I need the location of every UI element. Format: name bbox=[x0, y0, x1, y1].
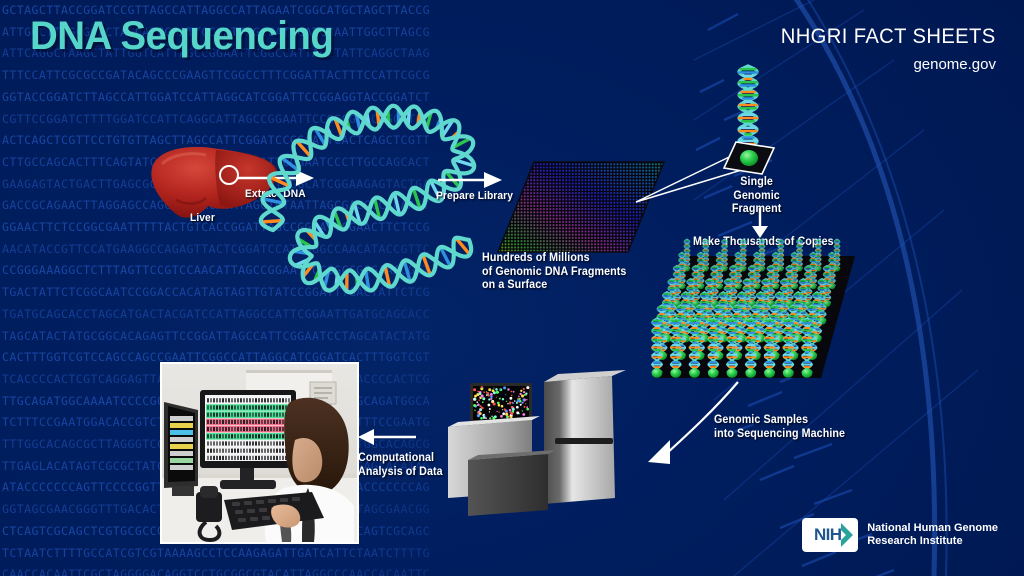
fact-sheets-label: NHGRI FACT SHEETS bbox=[781, 24, 996, 49]
page-title: DNA Sequencing bbox=[30, 14, 333, 59]
label-computational-analysis: Computational Analysis of Data bbox=[358, 452, 443, 479]
single-fragment-tile bbox=[722, 140, 778, 180]
fragments-line-2: of Genomic DNA Fragments bbox=[482, 266, 626, 280]
researcher-photo bbox=[160, 362, 359, 544]
analysis-arrow bbox=[358, 428, 416, 446]
chevron-right-icon bbox=[839, 522, 855, 548]
fragments-line-1: Hundreds of Millions bbox=[482, 252, 626, 266]
website-label: genome.gov bbox=[913, 56, 996, 73]
sequencing-machine bbox=[440, 360, 655, 538]
analysis-line-1: Computational bbox=[358, 452, 443, 466]
label-liver: Liver bbox=[190, 212, 215, 226]
clonal-cluster-array bbox=[655, 248, 855, 388]
label-samples-into-machine: Genomic Samples into Sequencing Machine bbox=[714, 414, 845, 441]
nih-logo: NIH National Human Genome Research Insti… bbox=[802, 518, 998, 552]
prepare-library-arrow bbox=[438, 170, 502, 190]
infographic-canvas: GCTAGCTTACCGGATCCGTTAGCCATTAGGCCATTAGAAT… bbox=[0, 0, 1024, 576]
nih-mark-box: NIH bbox=[802, 518, 858, 552]
institute-line-1: National Human Genome bbox=[867, 522, 998, 536]
institute-line-2: Research Institute bbox=[867, 535, 998, 549]
samples-line-2: into Sequencing Machine bbox=[714, 428, 845, 442]
photo-screen-lines bbox=[206, 397, 290, 461]
nih-mark-text: NIH bbox=[814, 525, 841, 545]
samples-line-1: Genomic Samples bbox=[714, 414, 845, 428]
make-copies-arrow bbox=[750, 208, 770, 238]
nih-institute-name: National Human Genome Research Institute bbox=[867, 522, 998, 549]
fragments-line-3: on a Surface bbox=[482, 279, 626, 293]
label-fragments-on-surface: Hundreds of Millions of Genomic DNA Frag… bbox=[482, 252, 626, 293]
single-line-1: Single bbox=[712, 176, 801, 190]
analysis-line-2: Analysis of Data bbox=[358, 466, 443, 480]
